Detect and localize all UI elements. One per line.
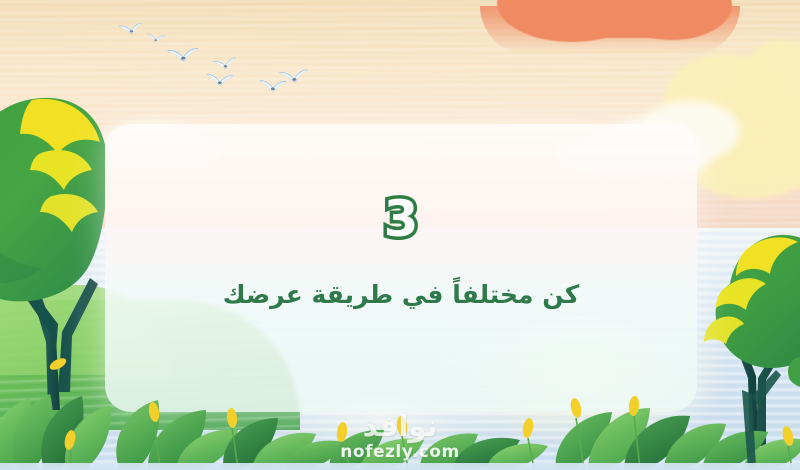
bird-7-icon [277, 66, 311, 86]
slide-number: 3 [384, 194, 419, 244]
slide-headline: كن مختلفاً في طريقة عرضك [223, 280, 580, 309]
bird-4-icon [205, 71, 236, 88]
coral-cloud-fade [480, 6, 740, 54]
bottom-foliage-graphic [0, 350, 800, 470]
bottom-foliage [0, 350, 800, 470]
bottom-edge-strip [0, 463, 800, 470]
slide-canvas: 3 كن مختلفاً في طريقة عرضك [0, 0, 800, 470]
bird-3-icon [165, 45, 200, 65]
bird-2-icon [146, 32, 167, 44]
